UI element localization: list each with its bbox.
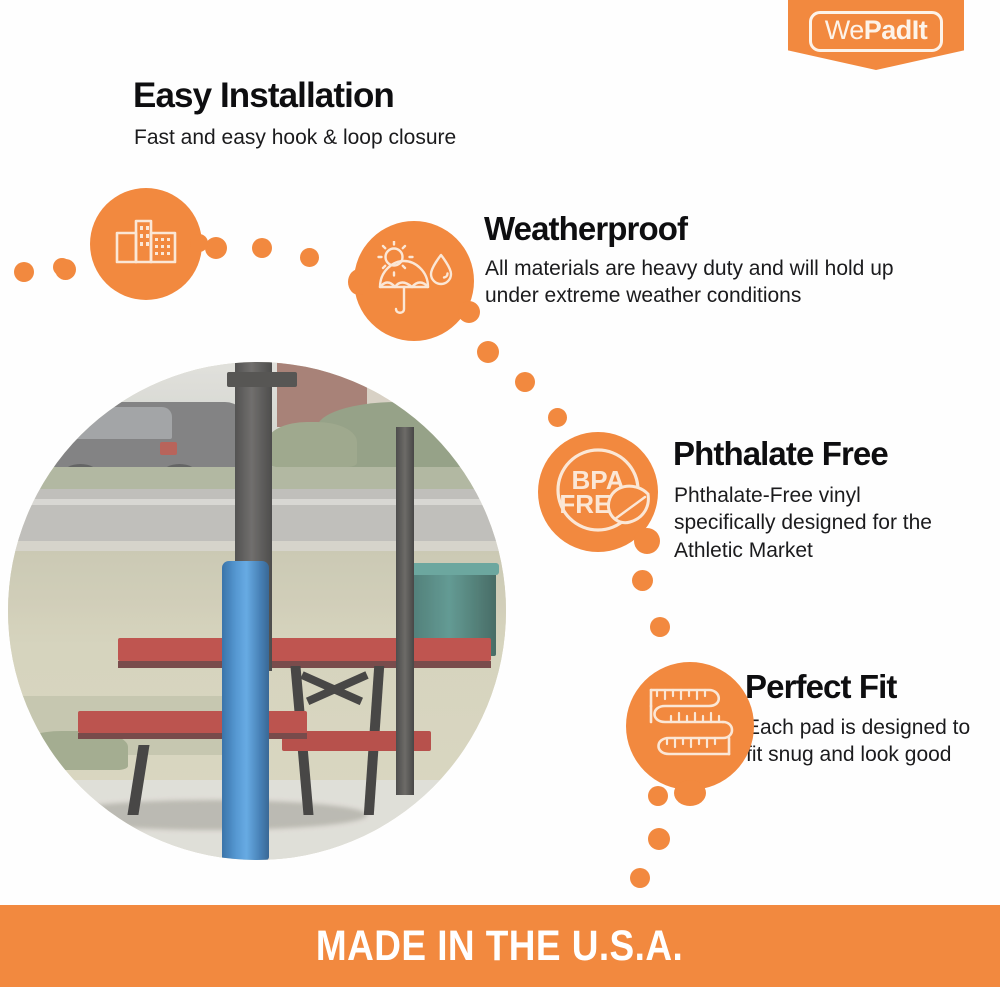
feature-description-phthalate-free: Phthalate-Free vinyl specifically design… [674,482,944,564]
photo-bench-left-edge [78,733,307,739]
photo-picnic-tabletop-edge [118,661,492,668]
trail-dot [14,262,34,282]
photo-suv-window [63,407,173,439]
photo-trash-barrel-lip [408,563,499,575]
brand-logo-badge: WePadIt [788,0,964,70]
photo-building-secondary [367,362,447,407]
circle-blob [458,301,480,323]
circle-blob [190,234,208,252]
trail-dot [55,259,76,280]
circle-blob [348,269,370,295]
photo-pole-right [396,427,414,796]
trail-dot [515,372,535,392]
feature-icon-circle-easy-installation [90,188,202,300]
feature-description-perfect-fit: Each pad is designed to fit snug and loo… [746,714,981,769]
logo-text-we: We [825,15,864,45]
logo-text-pad: Pad [864,15,912,45]
feature-title-easy-installation: Easy Installation [133,78,394,115]
made-in-usa-text: MADE IN THE U.S.A. [316,922,683,971]
photo-pole-crossbar [227,372,297,387]
feature-title-phthalate-free: Phthalate Free [673,437,888,472]
product-photo-scene [8,362,506,860]
infographic-canvas: WePadIt Easy Installation Fast and easy … [0,0,1000,987]
trail-dot [300,248,319,267]
photo-picnic-tabletop [118,638,492,661]
feature-title-weatherproof: Weatherproof [484,212,687,247]
logo-frame: WePadIt [809,11,944,52]
trail-dot [648,828,670,850]
feature-icon-circle-perfect-fit [626,662,754,790]
building-icon [114,215,178,273]
photo-bench-left [78,711,307,733]
trail-dot [548,408,567,427]
bpa-free-leaf-icon: BPA FREE [544,438,652,546]
trail-dot [632,570,653,591]
circle-blob [634,528,660,554]
photo-blue-pole-pad [222,561,269,860]
trail-dot [650,617,670,637]
feature-description-weatherproof: All materials are heavy duty and will ho… [485,255,915,310]
trail-dot [477,341,499,363]
photo-suv-taillight [160,442,177,455]
logo-text-it: It [912,15,928,45]
trail-dot [252,238,272,258]
feature-icon-circle-weatherproof [354,221,474,341]
logo-text: WePadIt [825,15,928,45]
leaf-shape [608,486,648,523]
trail-dot [648,786,668,806]
feature-title-perfect-fit: Perfect Fit [745,670,896,705]
circle-blob [674,780,706,806]
feature-icon-circle-phthalate-free: BPA FREE [538,432,658,552]
made-in-usa-banner: MADE IN THE U.S.A. [0,905,1000,987]
photo-hedge-secondary [267,422,357,467]
photo-ground-shadow [58,800,367,830]
measuring-tape-icon [643,680,737,772]
feature-description-easy-installation: Fast and easy hook & loop closure [134,124,554,151]
product-photo [8,362,506,860]
umbrella-sun-raindrop-icon [371,241,457,321]
trail-dot [630,868,650,888]
trail-dot [205,237,227,259]
